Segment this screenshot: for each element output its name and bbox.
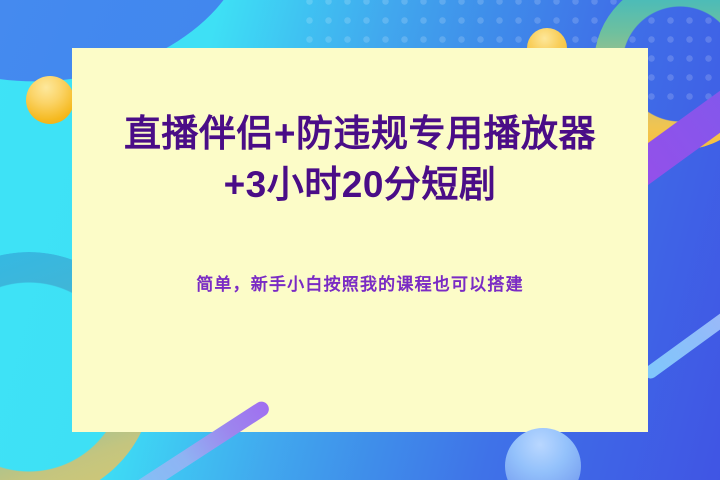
poster-subtitle: 简单，新手小白按照我的课程也可以搭建	[72, 270, 648, 295]
blue-sphere-decoration-bottom	[505, 428, 581, 480]
blue-stripe-decoration-right	[642, 300, 720, 381]
promo-poster: 直播伴侣+防违规专用播放器 +3小时20分短剧 简单，新手小白按照我的课程也可以…	[0, 0, 720, 480]
gold-sphere-decoration-left	[26, 76, 74, 124]
poster-title: 直播伴侣+防违规专用播放器 +3小时20分短剧	[72, 110, 648, 210]
title-line-1: 直播伴侣+防违规专用播放器	[78, 110, 642, 159]
title-line-2: +3小时20分短剧	[78, 161, 642, 210]
content-card: 直播伴侣+防违规专用播放器 +3小时20分短剧 简单，新手小白按照我的课程也可以…	[72, 48, 648, 432]
